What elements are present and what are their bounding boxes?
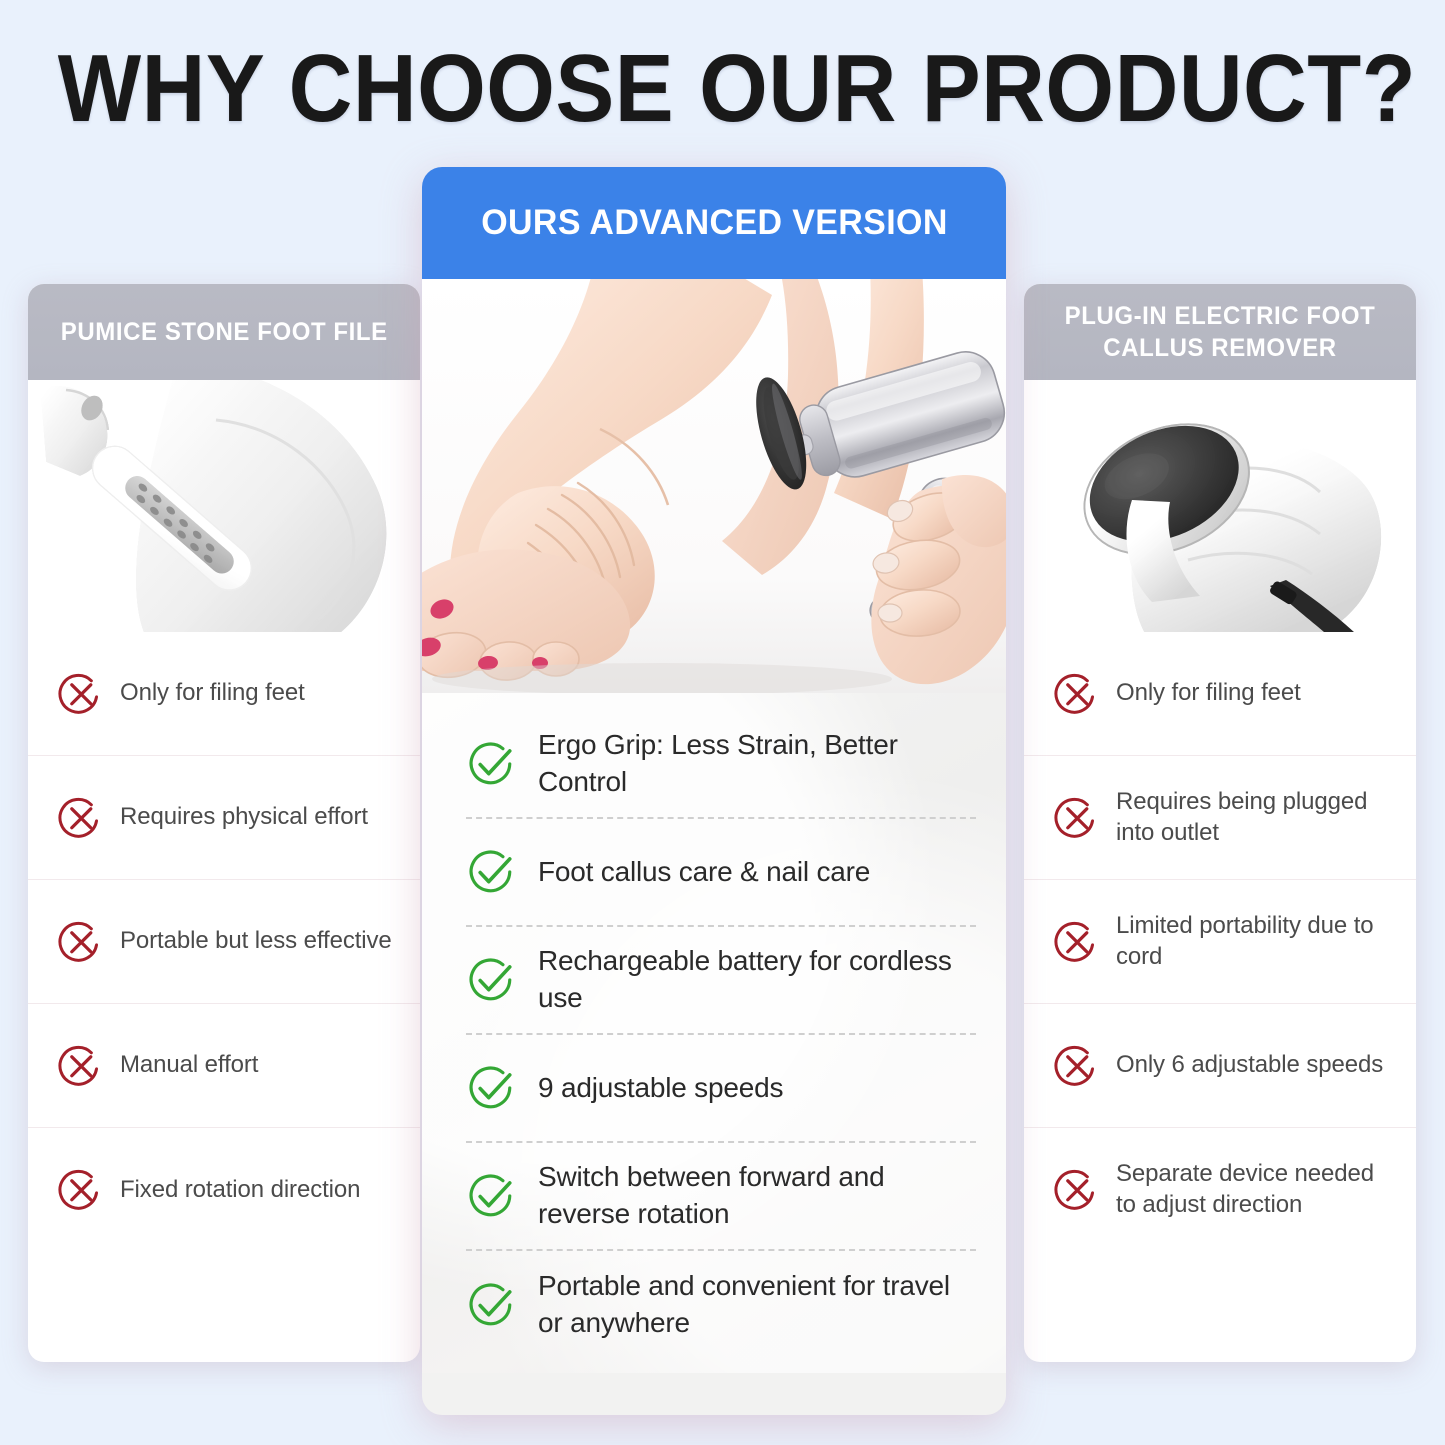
- comparison-infographic: WHY CHOOSE OUR PRODUCT? PUMICE STONE FOO…: [0, 0, 1445, 1445]
- list-item-label: Ergo Grip: Less Strain, Better Control: [538, 727, 976, 801]
- con-list-left: Only for filing feet Requires physical e…: [28, 632, 420, 1252]
- list-item-label: Manual effort: [120, 1050, 258, 1081]
- check-circle-icon: [466, 1063, 516, 1113]
- list-item-label: Requires physical effort: [120, 802, 368, 833]
- list-item-label: Portable and convenient for travel or an…: [538, 1268, 976, 1342]
- list-item-label: Foot callus care & nail care: [538, 854, 870, 891]
- cross-circle-icon: [1054, 1043, 1100, 1089]
- list-item: Fixed rotation direction: [28, 1128, 420, 1252]
- list-item-label: Only 6 adjustable speeds: [1116, 1050, 1383, 1081]
- list-item: Ergo Grip: Less Strain, Better Control: [466, 711, 976, 819]
- column-header-center-label: OURS ADVANCED VERSION: [481, 203, 948, 243]
- list-item: Only 6 adjustable speeds: [1024, 1004, 1416, 1128]
- list-item: Only for filing feet: [1024, 632, 1416, 756]
- list-item: Only for filing feet: [28, 632, 420, 756]
- list-item-label: Only for filing feet: [1116, 678, 1301, 709]
- column-header-center: OURS ADVANCED VERSION: [422, 167, 1006, 279]
- page-title: WHY CHOOSE OUR PRODUCT?: [58, 34, 1387, 144]
- list-item: 9 adjustable speeds: [466, 1035, 976, 1143]
- product-photo-center: [422, 279, 1006, 693]
- product-photo-right: [1024, 380, 1416, 632]
- cross-circle-icon: [58, 1043, 104, 1089]
- list-item: Manual effort: [28, 1004, 420, 1128]
- list-item-label: Portable but less effective: [120, 926, 392, 957]
- cross-circle-icon: [1054, 795, 1100, 841]
- check-circle-icon: [466, 739, 516, 789]
- cross-circle-icon: [58, 795, 104, 841]
- list-item: Limited portability due to cord: [1024, 880, 1416, 1004]
- cross-circle-icon: [1054, 1167, 1100, 1213]
- list-item: Requires being plugged into outlet: [1024, 756, 1416, 880]
- check-circle-icon: [466, 1280, 516, 1330]
- cross-circle-icon: [58, 1167, 104, 1213]
- list-item: Foot callus care & nail care: [466, 819, 976, 927]
- list-item: Portable and convenient for travel or an…: [466, 1251, 976, 1359]
- column-header-right-label: PLUG-IN ELECTRIC FOOT CALLUS REMOVER: [1049, 300, 1391, 364]
- corded-callus-remover-illustration: [1024, 380, 1416, 632]
- pro-list-center: Ergo Grip: Less Strain, Better Control F…: [422, 693, 1006, 1373]
- list-item: Rechargeable battery for cordless use: [466, 927, 976, 1035]
- list-item: Switch between forward and reverse rotat…: [466, 1143, 976, 1251]
- cross-circle-icon: [58, 671, 104, 717]
- list-item-label: Fixed rotation direction: [120, 1175, 360, 1206]
- list-item-label: 9 adjustable speeds: [538, 1070, 783, 1107]
- column-header-right: PLUG-IN ELECTRIC FOOT CALLUS REMOVER: [1024, 284, 1416, 380]
- cross-circle-icon: [1054, 919, 1100, 965]
- list-item-label: Rechargeable battery for cordless use: [538, 943, 976, 1017]
- list-item: Portable but less effective: [28, 880, 420, 1004]
- list-item: Requires physical effort: [28, 756, 420, 880]
- list-item: Separate device needed to adjust directi…: [1024, 1128, 1416, 1252]
- comparison-column-center: OURS ADVANCED VERSION: [422, 167, 1006, 1415]
- feet-with-cordless-callus-remover-illustration: [422, 279, 1006, 693]
- cross-circle-icon: [1054, 671, 1100, 717]
- product-photo-left: [28, 380, 420, 632]
- column-header-left-label: PUMICE STONE FOOT FILE: [61, 316, 388, 348]
- list-item-label: Switch between forward and reverse rotat…: [538, 1159, 976, 1233]
- comparison-column-right: PLUG-IN ELECTRIC FOOT CALLUS REMOVER: [1024, 284, 1416, 1362]
- check-circle-icon: [466, 955, 516, 1005]
- pumice-foot-file-illustration: [28, 380, 420, 632]
- cross-circle-icon: [58, 919, 104, 965]
- list-item-label: Only for filing feet: [120, 678, 305, 709]
- list-item-label: Requires being plugged into outlet: [1116, 787, 1394, 848]
- list-item-label: Limited portability due to cord: [1116, 911, 1394, 972]
- check-circle-icon: [466, 1171, 516, 1221]
- check-circle-icon: [466, 847, 516, 897]
- con-list-right: Only for filing feet Requires being plug…: [1024, 632, 1416, 1252]
- comparison-column-left: PUMICE STONE FOOT FILE: [28, 284, 420, 1362]
- list-item-label: Separate device needed to adjust directi…: [1116, 1159, 1394, 1220]
- column-header-left: PUMICE STONE FOOT FILE: [28, 284, 420, 380]
